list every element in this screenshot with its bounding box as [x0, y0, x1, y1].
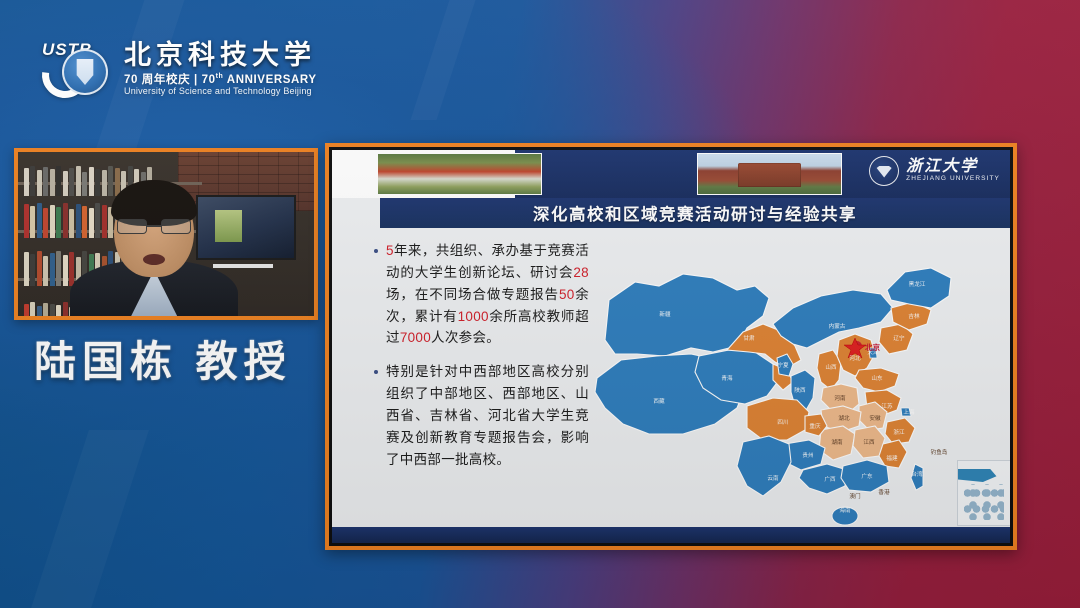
capital-label: 北京 [865, 342, 880, 352]
computer-monitor [196, 195, 297, 261]
map-label-浙江: 浙江 [893, 428, 905, 436]
zhejiang-university-logo: 浙江大学 ZHEJIANG UNIVERSITY [869, 156, 1000, 186]
speaker-name-caption: 陆国栋 教授 [34, 341, 292, 383]
ustb-seal-icon [62, 49, 108, 95]
map-label-安徽: 安徽 [869, 414, 881, 422]
bg-streak [31, 430, 149, 608]
map-label-广西: 广西 [824, 475, 836, 483]
map-label-福建: 福建 [886, 454, 898, 462]
slide-title: 深化高校和区域竞赛活动研讨与经验共享 [533, 201, 857, 225]
map-label-云南: 云南 [767, 474, 779, 482]
map-label-河北: 河北 [849, 354, 861, 362]
bullet-text-segment: 特别是针对中西部地区高校分别组织了中部地区、西部地区、山西省、吉林省、河北省大学… [386, 364, 589, 466]
map-label-宁夏: 宁夏 [777, 361, 789, 369]
speaker-glasses [117, 219, 191, 234]
map-label-内蒙古: 内蒙古 [829, 322, 846, 330]
slide-photo-campus-building [697, 153, 842, 195]
bullet-highlight-number: 5 [386, 243, 394, 258]
building-shape [738, 163, 801, 187]
map-label-西藏: 西藏 [653, 397, 665, 405]
ustb-emblem-icon: USTB [40, 38, 114, 100]
ustb-name-cn: 北京科技大学 [124, 41, 317, 69]
map-label-钓鱼岛: 钓鱼岛 [931, 448, 948, 456]
bullet-item: 特别是针对中西部地区高校分别组织了中部地区、西部地区、山西省、吉林省、河北省大学… [374, 361, 589, 470]
slide-photo-campus-flowers [377, 153, 542, 195]
map-label-江苏: 江苏 [881, 402, 893, 410]
bullet-text: 特别是针对中西部地区高校分别组织了中部地区、西部地区、山西省、吉林省、河北省大学… [386, 361, 589, 470]
china-map: 新疆西藏青海甘肃内蒙古宁夏陕西山西河北天津山东河南江苏安徽上海浙江湖北湖南江西福… [587, 228, 1010, 543]
bullet-text: 5年来，共组织、承办基于竞赛活动的大学生创新论坛、研讨会28场，在不同场合做专题… [386, 240, 589, 349]
map-label-黑龙江: 黑龙江 [909, 280, 926, 288]
bullet-highlight-number: 1000 [458, 309, 489, 324]
bullet-marker-icon [374, 370, 378, 374]
glasses-lens-left [117, 219, 147, 234]
map-label-海南: 海南 [839, 506, 851, 514]
map-label-上海: 上海 [903, 408, 915, 416]
slide-content: 浙江大学 ZHEJIANG UNIVERSITY 深化高校和区域竞赛活动研讨与经… [332, 150, 1010, 543]
glasses-bridge [147, 225, 161, 227]
slide-bottom-strip [332, 527, 1010, 543]
speaker-video-panel[interactable] [14, 148, 318, 320]
bg-streak [411, 0, 476, 120]
map-label-澳门: 澳门 [849, 492, 861, 500]
map-label-湖北: 湖北 [838, 414, 850, 422]
slide-photo-band: 浙江大学 ZHEJIANG UNIVERSITY [332, 150, 1010, 198]
bullet-text-segment: 场，在不同场合做专题报告 [386, 287, 559, 302]
bullet-text-segment: 人次参会。 [431, 330, 500, 345]
map-label-青海: 青海 [721, 374, 733, 382]
monitor-stand [213, 264, 272, 268]
zju-seal-icon [869, 156, 899, 186]
zju-name-cn: 浙江大学 [906, 159, 1000, 176]
speaker-video-feed [18, 152, 314, 316]
slide-bullet-list: 5年来，共组织、承办基于竞赛活动的大学生创新论坛、研讨会28场，在不同场合做专题… [374, 240, 589, 483]
ustb-anniversary: 70 周年校庆 | 70th ANNIVERSARY [124, 73, 317, 86]
zju-wordmark: 浙江大学 ZHEJIANG UNIVERSITY [906, 159, 1000, 183]
ustb-anniversary-num: 70 [202, 73, 216, 85]
map-label-陕西: 陕西 [794, 386, 806, 394]
bullet-highlight-number: 7000 [400, 330, 431, 345]
inset-islands [964, 484, 1004, 520]
speaker-mouth [143, 254, 165, 265]
bullet-item: 5年来，共组织、承办基于竞赛活动的大学生创新论坛、研讨会28场，在不同场合做专题… [374, 240, 589, 349]
bullet-highlight-number: 50 [559, 287, 575, 302]
ustb-anniversary-cn: 70 周年校庆 [124, 73, 190, 85]
map-label-江西: 江西 [863, 439, 875, 446]
glasses-lens-right [161, 219, 191, 234]
slide-title-bar: 深化高校和区域竞赛活动研讨与经验共享 [380, 198, 1010, 228]
ustb-logo: USTB 北京科技大学 70 周年校庆 | 70th ANNIVERSARY U… [40, 38, 317, 100]
broadcast-stage: USTB 北京科技大学 70 周年校庆 | 70th ANNIVERSARY U… [0, 0, 1080, 608]
bullet-marker-icon [374, 249, 378, 253]
map-label-山西: 山西 [825, 363, 837, 371]
zju-name-en: ZHEJIANG UNIVERSITY [906, 176, 1000, 183]
map-label-重庆: 重庆 [809, 422, 821, 430]
map-label-吉林: 吉林 [908, 312, 920, 320]
bullet-text-segment: 年来，共组织、承办基于竞赛活动的大学生创新论坛、研讨会 [386, 243, 589, 280]
ustb-seal-inner-icon [72, 59, 98, 85]
monitor-screen-content [215, 210, 242, 242]
south-china-sea-inset [957, 460, 1010, 526]
map-label-广东: 广东 [861, 472, 873, 480]
presentation-slide-panel[interactable]: 浙江大学 ZHEJIANG UNIVERSITY 深化高校和区域竞赛活动研讨与经… [325, 143, 1017, 550]
map-label-甘肃: 甘肃 [743, 334, 755, 342]
map-label-湖南: 湖南 [831, 438, 843, 446]
map-label-台湾: 台湾 [911, 470, 923, 478]
china-map-svg: 新疆西藏青海甘肃内蒙古宁夏陕西山西河北天津山东河南江苏安徽上海浙江湖北湖南江西福… [587, 228, 1010, 543]
map-label-四川: 四川 [777, 419, 788, 426]
map-label-新疆: 新疆 [659, 310, 671, 318]
ustb-wordmark: 北京科技大学 70 周年校庆 | 70th ANNIVERSARY Univer… [124, 41, 317, 97]
map-label-香港: 香港 [878, 488, 890, 496]
map-label-贵州: 贵州 [802, 451, 813, 459]
ustb-anniversary-rest: ANNIVERSARY [223, 73, 316, 85]
map-provinces [595, 268, 951, 525]
ustb-name-en: University of Science and Technology Bei… [124, 87, 317, 96]
map-label-辽宁: 辽宁 [893, 334, 905, 342]
map-label-河南: 河南 [834, 394, 846, 402]
map-label-山东: 山东 [871, 374, 883, 382]
